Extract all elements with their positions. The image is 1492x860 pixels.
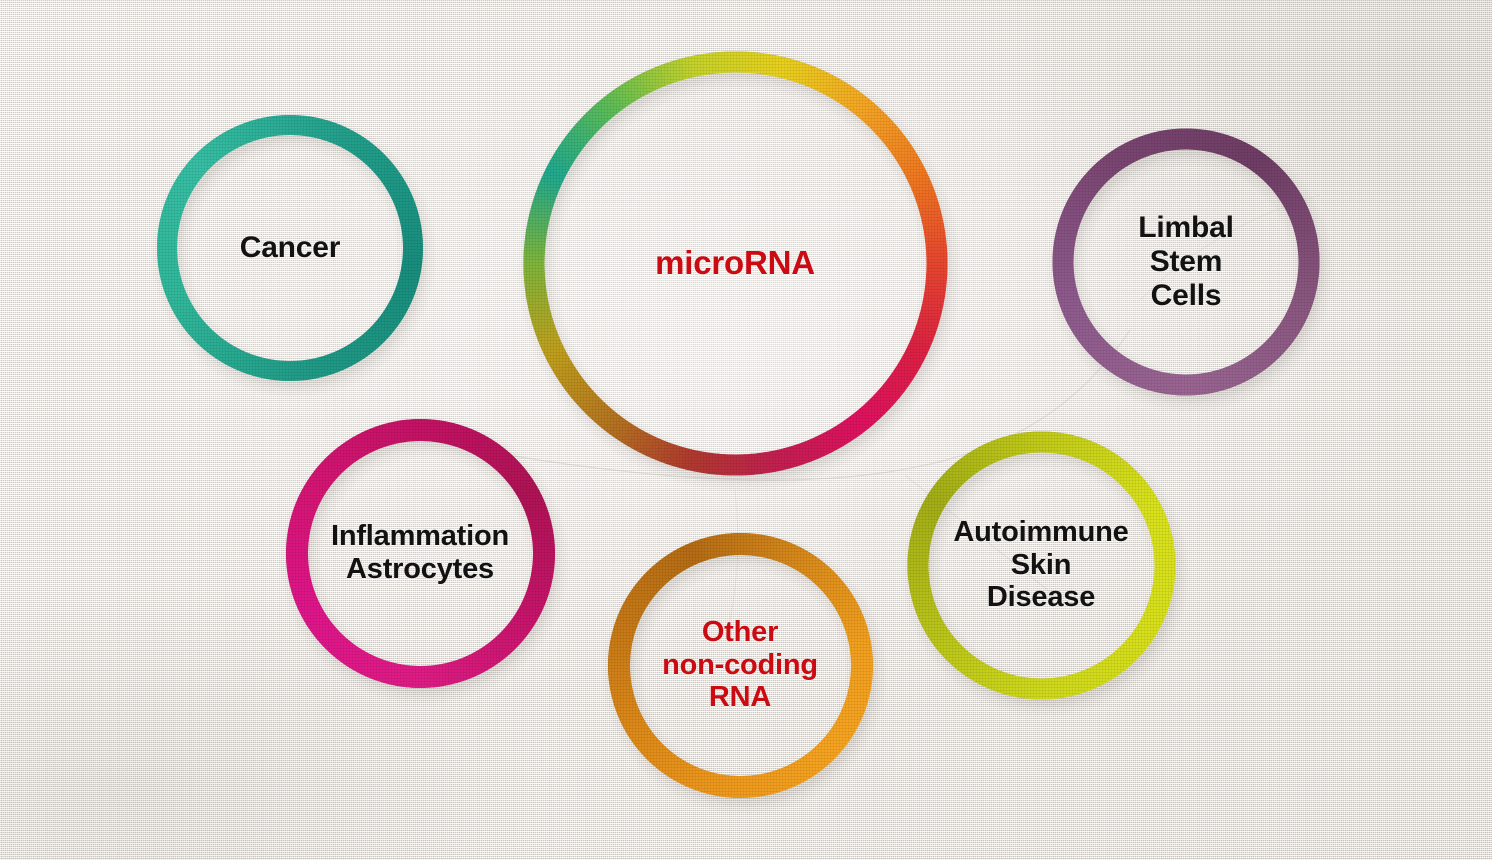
circle-label-other-ncrna: Other non-coding RNA [662, 616, 818, 714]
concept-circle-limbal[interactable]: Limbal Stem Cells [1037, 113, 1335, 411]
circle-label-inflammation: Inflammation Astrocytes [331, 520, 509, 586]
circle-label-autoimmune: Autoimmune Skin Disease [953, 516, 1128, 614]
concept-circle-autoimmune[interactable]: Autoimmune Skin Disease [892, 416, 1191, 715]
figure-canvas: CancermicroRNALimbal Stem CellsInflammat… [0, 0, 1492, 860]
circle-label-microrna: microRNA [655, 244, 815, 281]
concept-circle-other-ncrna[interactable]: Other non-coding RNA [593, 518, 888, 813]
concept-circle-inflammation[interactable]: Inflammation Astrocytes [271, 404, 570, 703]
circle-label-cancer: Cancer [240, 231, 341, 265]
concept-circle-cancer[interactable]: Cancer [141, 99, 439, 397]
circle-label-limbal: Limbal Stem Cells [1138, 211, 1233, 313]
